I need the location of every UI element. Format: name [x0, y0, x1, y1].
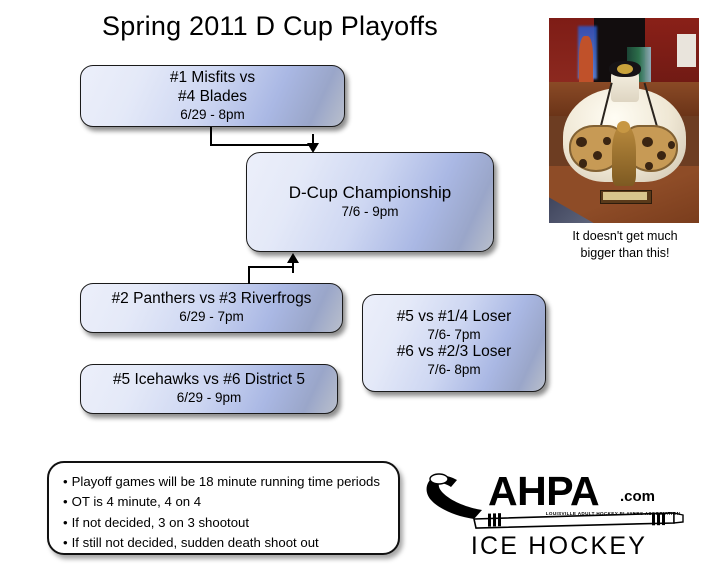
consolation-matchup-2: #6 vs #2/3 Loser: [397, 343, 512, 362]
photo-leopard-spot: [603, 137, 611, 145]
photo-leopard-spot: [593, 151, 602, 160]
photo-background-person: [579, 36, 593, 85]
bullet-icon: •: [63, 474, 68, 489]
photo-background-paper: [677, 34, 697, 67]
game-datetime: 6/29 - 8pm: [180, 107, 245, 123]
bracket-game-misfits-blades[interactable]: #1 Misfits vs #4 Blades 6/29 - 8pm: [80, 65, 345, 127]
game-matchup: #2 Panthers vs #3 Riverfrogs: [112, 290, 312, 309]
connector-segment-vertical: [292, 263, 294, 273]
connector-segment-vertical: [248, 266, 250, 284]
bracket-game-panthers-riverfrogs[interactable]: #2 Panthers vs #3 Riverfrogs 6/29 - 7pm: [80, 283, 343, 333]
arrow-up-icon: [287, 253, 299, 263]
rule-text: If still not decided, sudden death shoot…: [72, 535, 319, 550]
bracket-championship[interactable]: D-Cup Championship 7/6 - 9pm: [246, 152, 494, 252]
rules-box: •Playoff games will be 18 minute running…: [47, 461, 400, 555]
connector-segment-horizontal: [210, 144, 314, 146]
photo-caption-line1: It doesn't get much: [540, 228, 706, 245]
bullet-icon: •: [63, 535, 68, 550]
photo-hockey-player-figurine: [612, 125, 636, 187]
trophy-photo-block: [549, 18, 699, 223]
bullet-icon: •: [63, 494, 68, 509]
photo-leopard-spot: [576, 137, 587, 147]
game-matchup-line1: #1 Misfits vs: [170, 69, 255, 88]
photo-leopard-spot: [579, 159, 587, 167]
game-datetime: 6/29 - 7pm: [179, 309, 244, 325]
photo-leopard-spot: [645, 162, 653, 170]
consolation-time-1: 7/6- 7pm: [427, 327, 480, 343]
bullet-icon: •: [63, 515, 68, 530]
rule-text: OT is 4 minute, 4 on 4: [72, 494, 202, 509]
photo-trophy-plaque-engraving: [603, 192, 647, 199]
photo-leopard-spot: [642, 137, 653, 147]
photo-leopard-spot: [668, 141, 676, 149]
consolation-matchup-1: #5 vs #1/4 Loser: [397, 308, 512, 327]
ahpa-logo: AHPA .com LOUISVILLE ADULT HOCKEY PLAYER…: [424, 466, 694, 566]
bracket-game-icehawks-district5[interactable]: #5 Icehawks vs #6 District 5 6/29 - 9pm: [80, 364, 338, 414]
game-datetime: 6/29 - 9pm: [177, 390, 242, 406]
page-title: Spring 2011 D Cup Playoffs: [0, 11, 540, 42]
arrow-down-icon: [307, 143, 319, 153]
photo-figurine-head: [617, 121, 631, 133]
championship-name: D-Cup Championship: [289, 183, 452, 204]
photo-caption-line2: bigger than this!: [540, 245, 706, 262]
rule-text: If not decided, 3 on 3 shootout: [72, 515, 249, 530]
rule-text: Playoff games will be 18 minute running …: [72, 474, 380, 489]
logo-tagline: LOUISVILLE ADULT HOCKEY PLAYERS ASSOCIAT…: [537, 511, 689, 516]
rule-item: •If not decided, 3 on 3 shootout: [63, 513, 398, 533]
logo-wordmark: AHPA: [488, 468, 599, 515]
consolation-time-2: 7/6- 8pm: [427, 362, 480, 378]
rule-item: •Playoff games will be 18 minute running…: [63, 472, 398, 492]
championship-datetime: 7/6 - 9pm: [341, 204, 398, 220]
rule-item: •If still not decided, sudden death shoo…: [63, 533, 398, 553]
logo-dotcom: .com: [620, 488, 655, 505]
trophy-photo: [549, 18, 699, 223]
puck-letter-d: [617, 64, 634, 74]
logo-subtitle: ICE HOCKEY: [424, 532, 694, 561]
connector-segment-horizontal: [248, 266, 294, 268]
rule-item: •OT is 4 minute, 4 on 4: [63, 492, 398, 512]
bracket-consolation-games[interactable]: #5 vs #1/4 Loser 7/6- 7pm #6 vs #2/3 Los…: [362, 294, 546, 392]
photo-caption: It doesn't get much bigger than this!: [540, 228, 706, 262]
game-matchup-line2: #4 Blades: [178, 88, 247, 107]
game-matchup: #5 Icehawks vs #6 District 5: [113, 371, 305, 390]
